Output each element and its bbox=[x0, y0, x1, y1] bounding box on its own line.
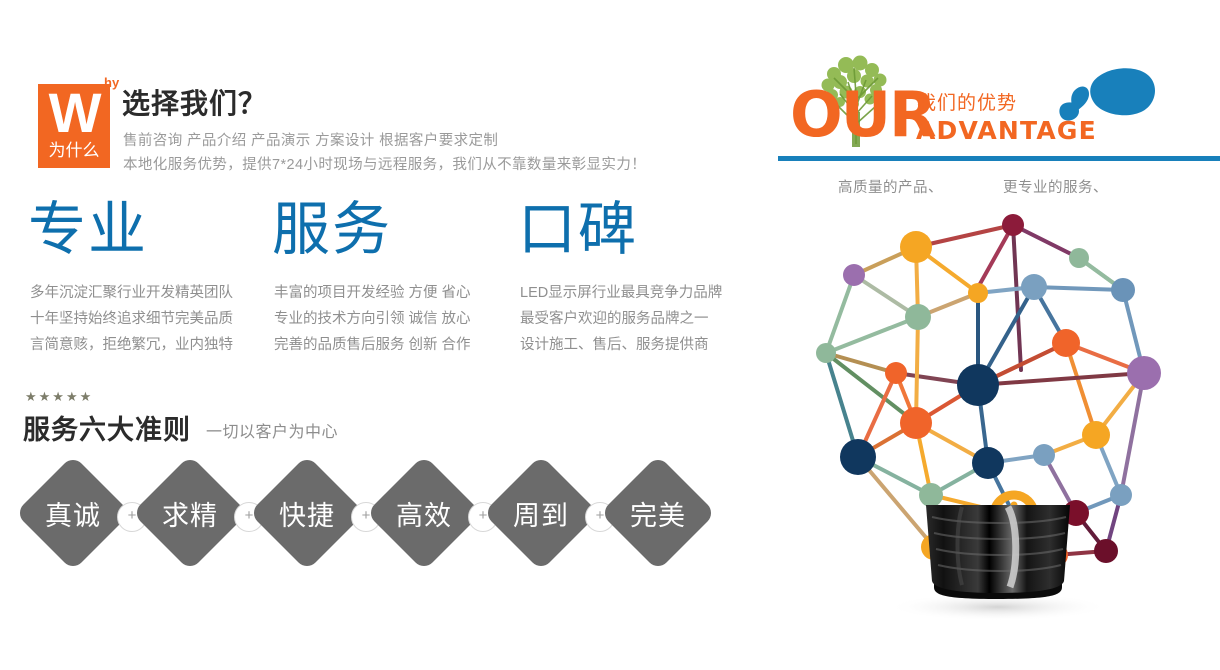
feature-body-line: 言简意赅，拒绝繁冗，业内独特 bbox=[30, 332, 233, 358]
principle-diamond-label: 周到 bbox=[500, 472, 582, 554]
feature-body: 多年沉淀汇聚行业开发精英团队 十年坚持始终追求细节完美品质 言简意赅，拒绝繁冗，… bbox=[30, 280, 233, 358]
feature-body-line: 完善的品质售后服务 创新 合作 bbox=[274, 332, 471, 358]
star-rating-icon: ★★★★★ bbox=[25, 390, 93, 403]
why-localization-line: 本地化服务优势，提供7*24小时现场与远程服务，我们从不靠数量来彰显实力！ bbox=[123, 153, 646, 174]
feature-body-line: 设计施工、售后、服务提供商 bbox=[520, 332, 722, 358]
feature-column-professional: 专业 多年沉淀汇聚行业开发精英团队 十年坚持始终追求细节完美品质 言简意赅，拒绝… bbox=[28, 196, 278, 376]
feature-body-line: LED显示屏行业最具竞争力品牌 bbox=[520, 280, 722, 306]
why-logo-letter: W bbox=[38, 86, 110, 140]
feature-heading: 口碑 bbox=[518, 196, 638, 262]
feature-heading-wrap: 专业 bbox=[28, 196, 278, 268]
why-logo-badge: W 为什么 bbox=[38, 84, 110, 168]
why-logo-subtitle: 为什么 bbox=[38, 140, 110, 162]
feature-heading-wrap: 服务 bbox=[272, 196, 522, 268]
promo-page: W 为什么 hy 选择我们？ 售前咨询 产品介绍 产品演示 方案设计 根据客户要… bbox=[0, 0, 1220, 670]
feature-body: 丰富的项目开发经验 方便 省心 专业的技术方向引领 诚信 放心 完善的品质售后服… bbox=[274, 280, 471, 358]
advantage-tag: 高质量的产品、 bbox=[838, 176, 943, 197]
feature-body-line: 丰富的项目开发经验 方便 省心 bbox=[274, 280, 471, 306]
principle-diamond-label: 求精 bbox=[149, 472, 231, 554]
principle-diamond-label: 完美 bbox=[617, 472, 699, 554]
bulb-base bbox=[926, 505, 1070, 599]
feature-column-service: 服务 丰富的项目开发经验 方便 省心 专业的技术方向引领 诚信 放心 完善的品质… bbox=[272, 196, 522, 376]
principle-diamond-label: 真诚 bbox=[32, 472, 114, 554]
blue-splash-icon bbox=[1045, 64, 1165, 134]
why-choose-us-title: 选择我们？ bbox=[122, 82, 267, 122]
feature-heading-wrap: 口碑 bbox=[518, 196, 768, 268]
feature-body-line: 最受客户欢迎的服务品牌之一 bbox=[520, 306, 722, 332]
feature-heading: 专业 bbox=[28, 196, 148, 262]
lightbulb-network-illustration bbox=[766, 195, 1216, 625]
feature-body-line: 十年坚持始终追求细节完美品质 bbox=[30, 306, 233, 332]
principle-diamond-label: 高效 bbox=[383, 472, 465, 554]
principles-diamond-row: 真诚+求精+快捷+高效+周到+完美 bbox=[0, 462, 760, 587]
six-principles-title: 服务六大准则 bbox=[23, 408, 191, 447]
advantage-chinese-label: 我们的优势 bbox=[917, 88, 1017, 115]
why-services-line: 售前咨询 产品介绍 产品演示 方案设计 根据客户要求定制 bbox=[123, 129, 498, 150]
feature-body: LED显示屏行业最具竞争力品牌 最受客户欢迎的服务品牌之一 设计施工、售后、服务… bbox=[520, 280, 722, 358]
six-principles-subtitle: 一切以客户为中心 bbox=[206, 418, 338, 442]
advantage-tag: 更专业的服务、 bbox=[1003, 176, 1108, 197]
right-panel: OUR 我们的优势 ADVANTAGE 高质量的产品、 更专业的服务、 bbox=[760, 0, 1220, 670]
feature-column-reputation: 口碑 LED显示屏行业最具竞争力品牌 最受客户欢迎的服务品牌之一 设计施工、售后… bbox=[518, 196, 768, 376]
feature-heading: 服务 bbox=[272, 196, 392, 262]
feature-body-line: 多年沉淀汇聚行业开发精英团队 bbox=[30, 280, 233, 306]
feature-body-line: 专业的技术方向引领 诚信 放心 bbox=[274, 306, 471, 332]
our-advantage-header: OUR 我们的优势 ADVANTAGE bbox=[780, 60, 1220, 170]
why-logo-superscript: hy bbox=[104, 76, 119, 89]
left-panel: W 为什么 hy 选择我们？ 售前咨询 产品介绍 产品演示 方案设计 根据客户要… bbox=[0, 0, 760, 670]
our-word: OUR bbox=[790, 84, 935, 146]
principle-diamond-label: 快捷 bbox=[266, 472, 348, 554]
blue-divider-rule bbox=[778, 156, 1220, 161]
